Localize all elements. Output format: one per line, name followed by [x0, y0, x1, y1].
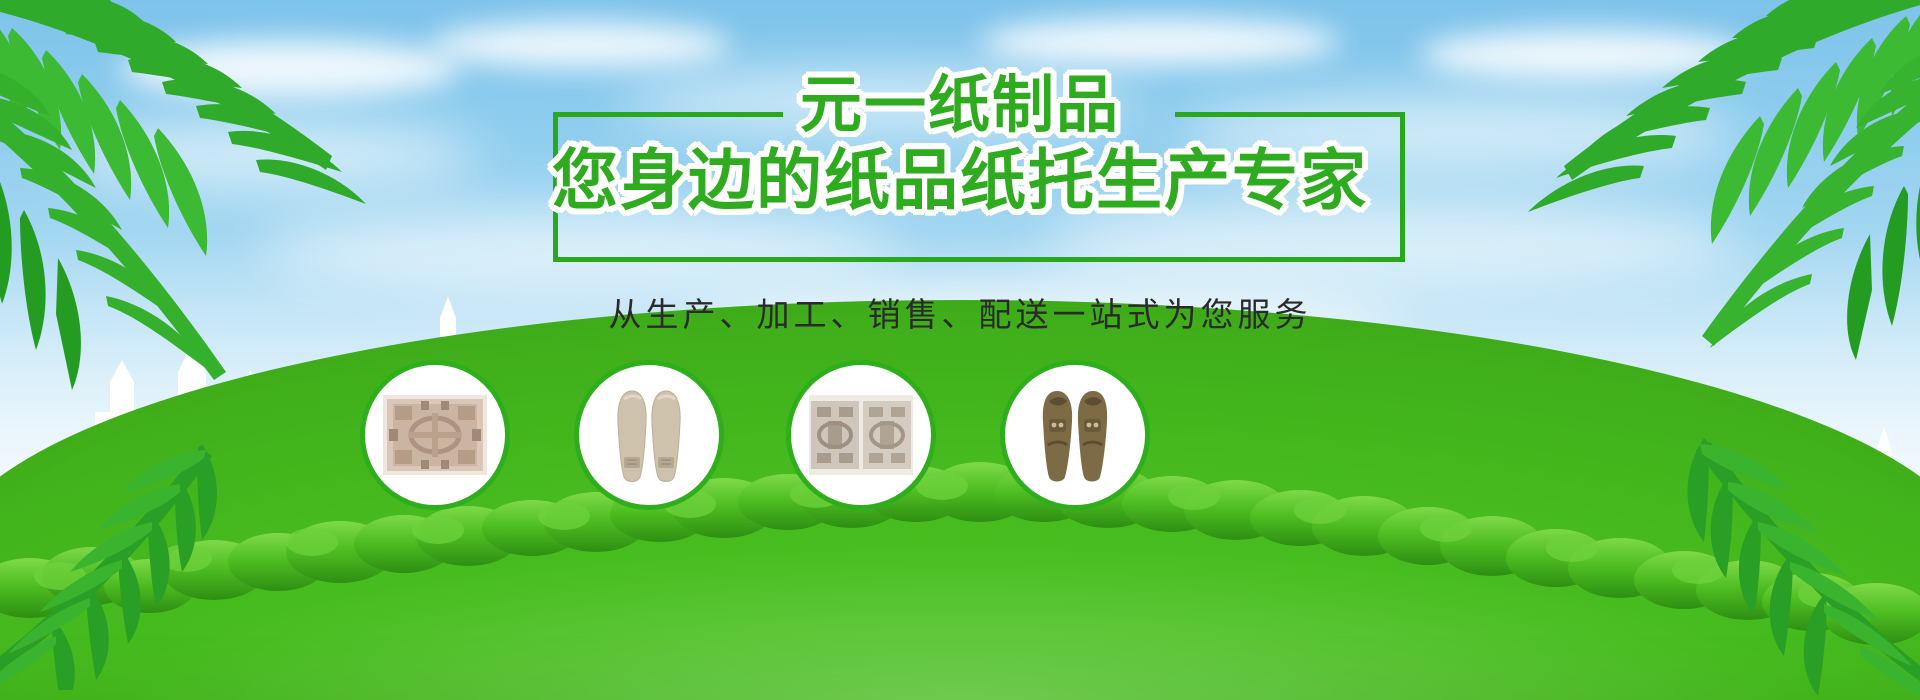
molded-pulp-shoe-tree-image	[610, 383, 688, 487]
product-circle-molded-pulp-shoe-pair[interactable]	[1000, 360, 1150, 510]
molded-pulp-square-tray-image	[383, 395, 487, 475]
molded-pulp-shoe-pair-image	[1036, 383, 1114, 487]
molded-pulp-corner-pair-image	[809, 395, 913, 475]
product-circle-molded-pulp-square-tray[interactable]	[360, 360, 510, 510]
promo-banner: 元一纸制品 您身边的纸品纸托生产专家 从生产、加工、销售、配送一站式为您服务	[0, 0, 1920, 700]
product-circle-row	[0, 0, 1920, 700]
product-circle-molded-pulp-shoe-tree[interactable]	[574, 360, 724, 510]
product-circle-molded-pulp-corner-pair[interactable]	[786, 360, 936, 510]
